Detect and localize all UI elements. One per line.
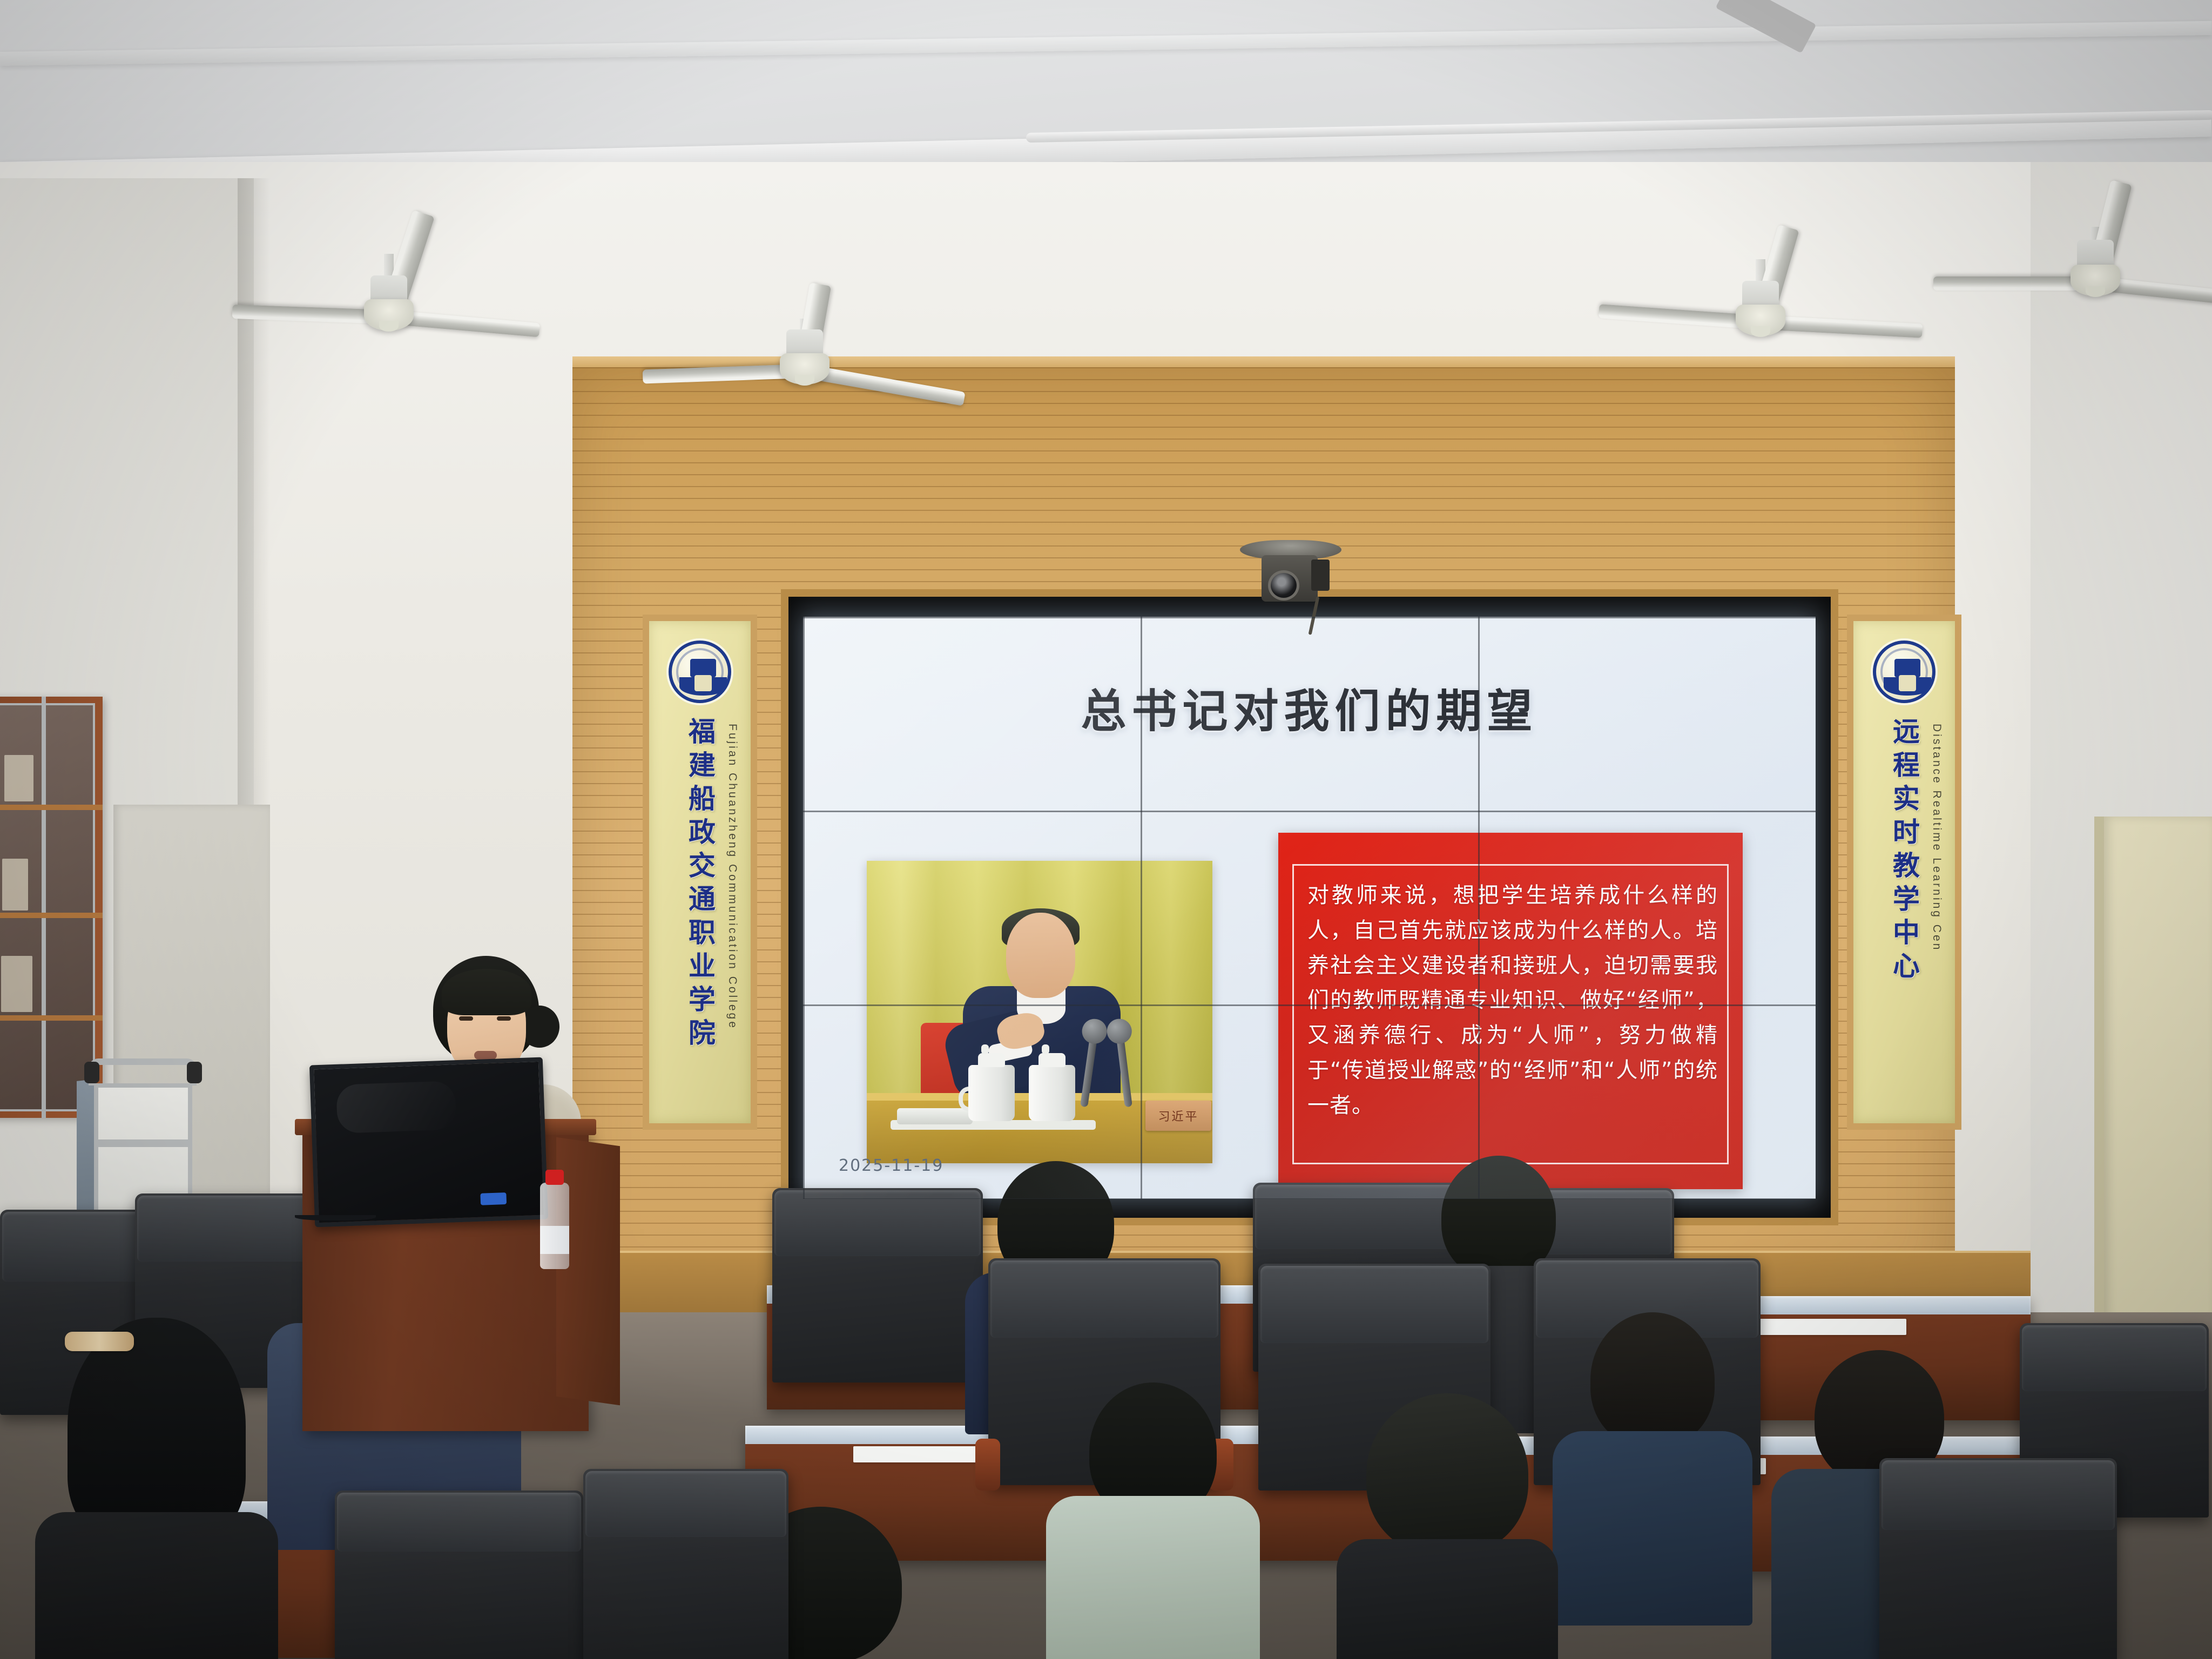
- chair[interactable]: [772, 1188, 983, 1382]
- ceiling-fan: [653, 319, 956, 427]
- audience-member: [1339, 1393, 1555, 1659]
- presentation-slide: 总书记对我们的期望: [803, 617, 1816, 1199]
- sign-panel-center: 远程实时教学中心 Distance Realtime Learning Cen: [1853, 621, 1955, 1123]
- monitor-cable: [295, 1212, 376, 1220]
- slide-quote-text: 对教师来说，想把学生培养成什么样的人，自己首先就应该成为什么样的人。培养社会主义…: [1307, 878, 1718, 1123]
- water-bottle: [540, 1183, 569, 1269]
- sign-college-english: Fujian Chuanzheng Communication College: [726, 724, 739, 1030]
- college-logo-icon: [1873, 640, 1935, 703]
- ceiling-fan: [1944, 227, 2212, 335]
- audience-member: [1555, 1312, 1750, 1615]
- doorway[interactable]: [2094, 817, 2212, 1362]
- ceiling-fan: [238, 254, 540, 362]
- camera-icon: [1237, 540, 1345, 621]
- bookcase: [0, 697, 103, 1118]
- usb-drive-icon: [480, 1192, 507, 1205]
- college-logo-icon: [669, 640, 731, 703]
- slide-photo: 习近平: [867, 861, 1212, 1163]
- chair[interactable]: [335, 1491, 583, 1659]
- slide-quote-box: 对教师来说，想把学生培养成什么样的人，自己首先就应该成为什么样的人。培养社会主义…: [1278, 833, 1743, 1189]
- podium-monitor[interactable]: [309, 1057, 548, 1228]
- audience-member: [1053, 1382, 1253, 1659]
- slide-title: 总书记对我们的期望: [803, 675, 1816, 740]
- video-wall-display[interactable]: 总书记对我们的期望: [803, 617, 1816, 1199]
- lecture-hall-photo: 总书记对我们的期望: [0, 0, 2212, 1659]
- chair[interactable]: [583, 1469, 788, 1659]
- sign-center-chinese: 远程实时教学中心: [1885, 717, 1924, 985]
- audience-member: [43, 1318, 270, 1659]
- photo-nameplate: 习近平: [1145, 1101, 1211, 1131]
- sign-center-english: Distance Realtime Learning Cen: [1930, 724, 1943, 952]
- sign-panel-college: 福建船政交通职业学院 Fujian Chuanzheng Communicati…: [649, 621, 751, 1123]
- slide-date: 2025-11-19: [839, 1156, 943, 1175]
- photo-teacup: [968, 1065, 1015, 1121]
- hair-clip: [49, 1312, 157, 1355]
- chair[interactable]: [1879, 1458, 2117, 1659]
- ceiling-fan: [1609, 259, 1912, 367]
- sign-college-chinese: 福建船政交通职业学院: [680, 717, 719, 1052]
- photo-teacup: [1029, 1065, 1075, 1121]
